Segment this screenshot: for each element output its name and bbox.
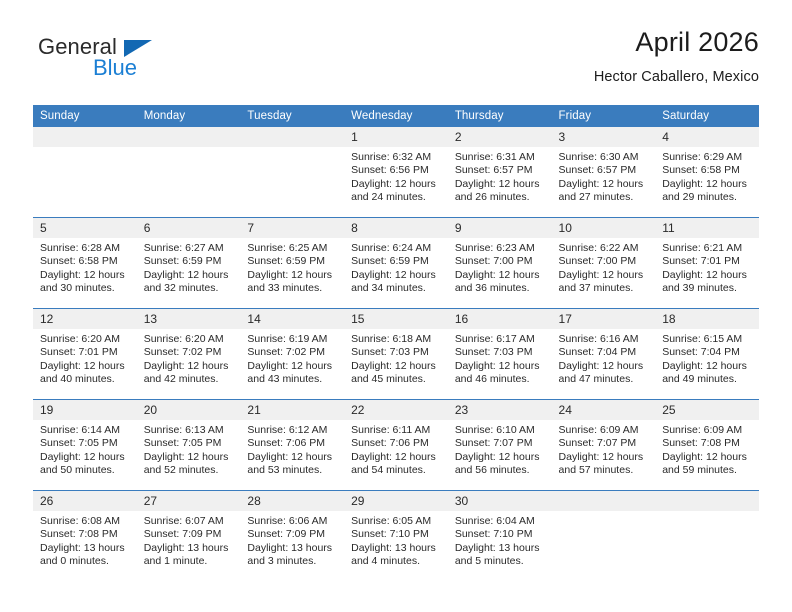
daylight-text: and 39 minutes.: [662, 282, 753, 295]
sunrise-text: Sunrise: 6:09 AM: [662, 424, 753, 437]
day-sun-info: Sunrise: 6:08 AMSunset: 7:08 PMDaylight:…: [33, 511, 137, 569]
sunset-text: Sunset: 7:01 PM: [662, 255, 753, 268]
calendar-day-cell[interactable]: 6Sunrise: 6:27 AMSunset: 6:59 PMDaylight…: [137, 218, 241, 309]
sunset-text: Sunset: 7:04 PM: [559, 346, 650, 359]
calendar-day-cell[interactable]: 4Sunrise: 6:29 AMSunset: 6:58 PMDaylight…: [655, 127, 759, 218]
daylight-text: Daylight: 13 hours: [455, 542, 546, 555]
daylight-text: and 27 minutes.: [559, 191, 650, 204]
day-sun-info: Sunrise: 6:13 AMSunset: 7:05 PMDaylight:…: [137, 420, 241, 478]
sunset-text: Sunset: 7:09 PM: [247, 528, 338, 541]
calendar-day-cell[interactable]: 1Sunrise: 6:32 AMSunset: 6:56 PMDaylight…: [344, 127, 448, 218]
day-number: 10: [552, 218, 656, 238]
day-sun-info: Sunrise: 6:24 AMSunset: 6:59 PMDaylight:…: [344, 238, 448, 296]
day-sun-info: Sunrise: 6:17 AMSunset: 7:03 PMDaylight:…: [448, 329, 552, 387]
calendar-day-cell[interactable]: 7Sunrise: 6:25 AMSunset: 6:59 PMDaylight…: [240, 218, 344, 309]
sunrise-text: Sunrise: 6:17 AM: [455, 333, 546, 346]
daylight-text: Daylight: 13 hours: [144, 542, 235, 555]
sunset-text: Sunset: 7:03 PM: [351, 346, 442, 359]
daylight-text: and 33 minutes.: [247, 282, 338, 295]
daylight-text: and 47 minutes.: [559, 373, 650, 386]
daylight-text: and 1 minute.: [144, 555, 235, 568]
daylight-text: Daylight: 12 hours: [144, 269, 235, 282]
daylight-text: Daylight: 12 hours: [662, 451, 753, 464]
day-number: 28: [240, 491, 344, 511]
sunset-text: Sunset: 7:02 PM: [247, 346, 338, 359]
daylight-text: Daylight: 12 hours: [144, 360, 235, 373]
calendar-day-cell-empty: [240, 127, 344, 218]
day-number: 5: [33, 218, 137, 238]
calendar-day-cell[interactable]: 3Sunrise: 6:30 AMSunset: 6:57 PMDaylight…: [552, 127, 656, 218]
day-sun-info: Sunrise: 6:31 AMSunset: 6:57 PMDaylight:…: [448, 147, 552, 205]
calendar-day-cell[interactable]: 27Sunrise: 6:07 AMSunset: 7:09 PMDayligh…: [137, 491, 241, 582]
sunrise-text: Sunrise: 6:23 AM: [455, 242, 546, 255]
calendar-day-cell[interactable]: 5Sunrise: 6:28 AMSunset: 6:58 PMDaylight…: [33, 218, 137, 309]
weekday-header-monday: Monday: [137, 105, 241, 127]
day-number: 2: [448, 127, 552, 147]
calendar-day-cell[interactable]: 29Sunrise: 6:05 AMSunset: 7:10 PMDayligh…: [344, 491, 448, 582]
day-number: 11: [655, 218, 759, 238]
sunset-text: Sunset: 7:09 PM: [144, 528, 235, 541]
sunset-text: Sunset: 6:58 PM: [40, 255, 131, 268]
day-number: 17: [552, 309, 656, 329]
day-sun-info: Sunrise: 6:29 AMSunset: 6:58 PMDaylight:…: [655, 147, 759, 205]
daylight-text: Daylight: 12 hours: [559, 178, 650, 191]
calendar-day-cell[interactable]: 19Sunrise: 6:14 AMSunset: 7:05 PMDayligh…: [33, 400, 137, 491]
sunrise-text: Sunrise: 6:30 AM: [559, 151, 650, 164]
sunset-text: Sunset: 7:03 PM: [455, 346, 546, 359]
day-number: [552, 491, 656, 511]
weekday-header-wednesday: Wednesday: [344, 105, 448, 127]
daylight-text: Daylight: 12 hours: [247, 451, 338, 464]
day-sun-info: Sunrise: 6:04 AMSunset: 7:10 PMDaylight:…: [448, 511, 552, 569]
calendar-grid: SundayMondayTuesdayWednesdayThursdayFrid…: [33, 105, 759, 581]
calendar-day-cell[interactable]: 24Sunrise: 6:09 AMSunset: 7:07 PMDayligh…: [552, 400, 656, 491]
sunrise-text: Sunrise: 6:05 AM: [351, 515, 442, 528]
day-sun-info: Sunrise: 6:28 AMSunset: 6:58 PMDaylight:…: [33, 238, 137, 296]
sunset-text: Sunset: 7:07 PM: [559, 437, 650, 450]
sunrise-text: Sunrise: 6:31 AM: [455, 151, 546, 164]
weekday-header-friday: Friday: [552, 105, 656, 127]
sunset-text: Sunset: 7:01 PM: [40, 346, 131, 359]
calendar-day-cell[interactable]: 13Sunrise: 6:20 AMSunset: 7:02 PMDayligh…: [137, 309, 241, 400]
sunset-text: Sunset: 7:06 PM: [247, 437, 338, 450]
daylight-text: Daylight: 13 hours: [40, 542, 131, 555]
daylight-text: Daylight: 12 hours: [559, 269, 650, 282]
weekday-header-sunday: Sunday: [33, 105, 137, 127]
sunset-text: Sunset: 6:57 PM: [455, 164, 546, 177]
sunset-text: Sunset: 7:06 PM: [351, 437, 442, 450]
daylight-text: and 57 minutes.: [559, 464, 650, 477]
daylight-text: and 5 minutes.: [455, 555, 546, 568]
calendar-week-row: 19Sunrise: 6:14 AMSunset: 7:05 PMDayligh…: [33, 400, 759, 491]
day-number: [240, 127, 344, 147]
daylight-text: and 4 minutes.: [351, 555, 442, 568]
day-sun-info: Sunrise: 6:27 AMSunset: 6:59 PMDaylight:…: [137, 238, 241, 296]
calendar-day-cell[interactable]: 10Sunrise: 6:22 AMSunset: 7:00 PMDayligh…: [552, 218, 656, 309]
sunrise-text: Sunrise: 6:28 AM: [40, 242, 131, 255]
calendar-day-cell[interactable]: 23Sunrise: 6:10 AMSunset: 7:07 PMDayligh…: [448, 400, 552, 491]
day-number: 20: [137, 400, 241, 420]
day-sun-info: Sunrise: 6:20 AMSunset: 7:01 PMDaylight:…: [33, 329, 137, 387]
calendar-day-cell-empty: [137, 127, 241, 218]
daylight-text: Daylight: 12 hours: [351, 451, 442, 464]
sunset-text: Sunset: 6:59 PM: [351, 255, 442, 268]
daylight-text: Daylight: 12 hours: [455, 360, 546, 373]
sunset-text: Sunset: 6:59 PM: [247, 255, 338, 268]
sunrise-text: Sunrise: 6:14 AM: [40, 424, 131, 437]
sunrise-text: Sunrise: 6:06 AM: [247, 515, 338, 528]
daylight-text: and 0 minutes.: [40, 555, 131, 568]
sunrise-text: Sunrise: 6:21 AM: [662, 242, 753, 255]
sunrise-text: Sunrise: 6:32 AM: [351, 151, 442, 164]
calendar-day-cell[interactable]: 12Sunrise: 6:20 AMSunset: 7:01 PMDayligh…: [33, 309, 137, 400]
sunset-text: Sunset: 7:10 PM: [351, 528, 442, 541]
day-sun-info: Sunrise: 6:22 AMSunset: 7:00 PMDaylight:…: [552, 238, 656, 296]
day-sun-info: Sunrise: 6:23 AMSunset: 7:00 PMDaylight:…: [448, 238, 552, 296]
daylight-text: and 37 minutes.: [559, 282, 650, 295]
daylight-text: and 50 minutes.: [40, 464, 131, 477]
day-sun-info: Sunrise: 6:11 AMSunset: 7:06 PMDaylight:…: [344, 420, 448, 478]
daylight-text: and 42 minutes.: [144, 373, 235, 386]
calendar-week-row: 5Sunrise: 6:28 AMSunset: 6:58 PMDaylight…: [33, 218, 759, 309]
day-number: 27: [137, 491, 241, 511]
sunset-text: Sunset: 7:02 PM: [144, 346, 235, 359]
day-number: 7: [240, 218, 344, 238]
day-sun-info: Sunrise: 6:12 AMSunset: 7:06 PMDaylight:…: [240, 420, 344, 478]
sunrise-text: Sunrise: 6:19 AM: [247, 333, 338, 346]
day-number: 4: [655, 127, 759, 147]
calendar-day-cell[interactable]: 2Sunrise: 6:31 AMSunset: 6:57 PMDaylight…: [448, 127, 552, 218]
daylight-text: and 30 minutes.: [40, 282, 131, 295]
daylight-text: Daylight: 12 hours: [455, 269, 546, 282]
sunset-text: Sunset: 7:05 PM: [144, 437, 235, 450]
general-blue-logo[interactable]: General Blue: [33, 32, 233, 88]
calendar-header-row: SundayMondayTuesdayWednesdayThursdayFrid…: [33, 105, 759, 127]
day-sun-info: Sunrise: 6:05 AMSunset: 7:10 PMDaylight:…: [344, 511, 448, 569]
sunset-text: Sunset: 6:58 PM: [662, 164, 753, 177]
sunrise-text: Sunrise: 6:04 AM: [455, 515, 546, 528]
daylight-text: and 46 minutes.: [455, 373, 546, 386]
sunrise-text: Sunrise: 6:22 AM: [559, 242, 650, 255]
daylight-text: and 36 minutes.: [455, 282, 546, 295]
daylight-text: and 49 minutes.: [662, 373, 753, 386]
day-number: 18: [655, 309, 759, 329]
daylight-text: and 52 minutes.: [144, 464, 235, 477]
title-block: April 2026 Hector Caballero, Mexico: [594, 28, 759, 85]
day-sun-info: Sunrise: 6:10 AMSunset: 7:07 PMDaylight:…: [448, 420, 552, 478]
day-sun-info: Sunrise: 6:06 AMSunset: 7:09 PMDaylight:…: [240, 511, 344, 569]
daylight-text: Daylight: 12 hours: [247, 360, 338, 373]
day-number: 15: [344, 309, 448, 329]
day-sun-info: Sunrise: 6:15 AMSunset: 7:04 PMDaylight:…: [655, 329, 759, 387]
sunrise-text: Sunrise: 6:12 AM: [247, 424, 338, 437]
day-sun-info: Sunrise: 6:25 AMSunset: 6:59 PMDaylight:…: [240, 238, 344, 296]
daylight-text: and 40 minutes.: [40, 373, 131, 386]
daylight-text: and 56 minutes.: [455, 464, 546, 477]
day-sun-info: Sunrise: 6:21 AMSunset: 7:01 PMDaylight:…: [655, 238, 759, 296]
day-number: [137, 127, 241, 147]
daylight-text: Daylight: 13 hours: [351, 542, 442, 555]
calendar-day-cell[interactable]: 28Sunrise: 6:06 AMSunset: 7:09 PMDayligh…: [240, 491, 344, 582]
day-number: 29: [344, 491, 448, 511]
daylight-text: Daylight: 12 hours: [40, 451, 131, 464]
daylight-text: Daylight: 12 hours: [351, 178, 442, 191]
page-subtitle: Hector Caballero, Mexico: [594, 69, 759, 85]
sunrise-text: Sunrise: 6:20 AM: [144, 333, 235, 346]
day-number: 25: [655, 400, 759, 420]
sunrise-text: Sunrise: 6:27 AM: [144, 242, 235, 255]
sunset-text: Sunset: 7:00 PM: [559, 255, 650, 268]
day-number: 8: [344, 218, 448, 238]
daylight-text: Daylight: 12 hours: [559, 451, 650, 464]
day-sun-info: Sunrise: 6:18 AMSunset: 7:03 PMDaylight:…: [344, 329, 448, 387]
calendar-day-cell-empty: [552, 491, 656, 582]
calendar-week-row: 12Sunrise: 6:20 AMSunset: 7:01 PMDayligh…: [33, 309, 759, 400]
day-number: 3: [552, 127, 656, 147]
day-number: 6: [137, 218, 241, 238]
day-sun-info: Sunrise: 6:09 AMSunset: 7:08 PMDaylight:…: [655, 420, 759, 478]
day-sun-info: Sunrise: 6:16 AMSunset: 7:04 PMDaylight:…: [552, 329, 656, 387]
calendar-day-cell[interactable]: 21Sunrise: 6:12 AMSunset: 7:06 PMDayligh…: [240, 400, 344, 491]
calendar-day-cell[interactable]: 17Sunrise: 6:16 AMSunset: 7:04 PMDayligh…: [552, 309, 656, 400]
page-header: General Blue April 2026 Hector Caballero…: [33, 28, 759, 96]
calendar-day-cell[interactable]: 26Sunrise: 6:08 AMSunset: 7:08 PMDayligh…: [33, 491, 137, 582]
calendar-day-cell[interactable]: 18Sunrise: 6:15 AMSunset: 7:04 PMDayligh…: [655, 309, 759, 400]
calendar-day-cell[interactable]: 25Sunrise: 6:09 AMSunset: 7:08 PMDayligh…: [655, 400, 759, 491]
day-number: [655, 491, 759, 511]
day-number: 24: [552, 400, 656, 420]
daylight-text: and 54 minutes.: [351, 464, 442, 477]
sunset-text: Sunset: 6:56 PM: [351, 164, 442, 177]
day-number: [33, 127, 137, 147]
daylight-text: Daylight: 12 hours: [662, 178, 753, 191]
daylight-text: and 45 minutes.: [351, 373, 442, 386]
sunset-text: Sunset: 7:08 PM: [662, 437, 753, 450]
daylight-text: Daylight: 12 hours: [144, 451, 235, 464]
sunrise-text: Sunrise: 6:10 AM: [455, 424, 546, 437]
sunset-text: Sunset: 6:59 PM: [144, 255, 235, 268]
sunrise-text: Sunrise: 6:18 AM: [351, 333, 442, 346]
daylight-text: Daylight: 12 hours: [40, 269, 131, 282]
day-sun-info: Sunrise: 6:14 AMSunset: 7:05 PMDaylight:…: [33, 420, 137, 478]
sunset-text: Sunset: 7:00 PM: [455, 255, 546, 268]
sunrise-text: Sunrise: 6:24 AM: [351, 242, 442, 255]
daylight-text: Daylight: 12 hours: [247, 269, 338, 282]
daylight-text: and 3 minutes.: [247, 555, 338, 568]
sunrise-text: Sunrise: 6:07 AM: [144, 515, 235, 528]
day-sun-info: Sunrise: 6:30 AMSunset: 6:57 PMDaylight:…: [552, 147, 656, 205]
day-number: 1: [344, 127, 448, 147]
daylight-text: Daylight: 12 hours: [559, 360, 650, 373]
sunrise-text: Sunrise: 6:13 AM: [144, 424, 235, 437]
daylight-text: Daylight: 13 hours: [247, 542, 338, 555]
day-number: 30: [448, 491, 552, 511]
calendar-day-cell[interactable]: 11Sunrise: 6:21 AMSunset: 7:01 PMDayligh…: [655, 218, 759, 309]
sunrise-text: Sunrise: 6:20 AM: [40, 333, 131, 346]
daylight-text: and 43 minutes.: [247, 373, 338, 386]
daylight-text: Daylight: 12 hours: [40, 360, 131, 373]
calendar-page: General Blue April 2026 Hector Caballero…: [0, 0, 792, 612]
daylight-text: and 59 minutes.: [662, 464, 753, 477]
calendar-day-cell-empty: [33, 127, 137, 218]
calendar-week-row: 26Sunrise: 6:08 AMSunset: 7:08 PMDayligh…: [33, 491, 759, 582]
daylight-text: Daylight: 12 hours: [662, 269, 753, 282]
daylight-text: and 26 minutes.: [455, 191, 546, 204]
calendar-day-cell-empty: [655, 491, 759, 582]
day-sun-info: Sunrise: 6:07 AMSunset: 7:09 PMDaylight:…: [137, 511, 241, 569]
weekday-header-saturday: Saturday: [655, 105, 759, 127]
day-number: 19: [33, 400, 137, 420]
day-sun-info: Sunrise: 6:09 AMSunset: 7:07 PMDaylight:…: [552, 420, 656, 478]
sunset-text: Sunset: 6:57 PM: [559, 164, 650, 177]
daylight-text: and 24 minutes.: [351, 191, 442, 204]
day-number: 22: [344, 400, 448, 420]
sunrise-text: Sunrise: 6:29 AM: [662, 151, 753, 164]
sunset-text: Sunset: 7:10 PM: [455, 528, 546, 541]
calendar-day-cell[interactable]: 15Sunrise: 6:18 AMSunset: 7:03 PMDayligh…: [344, 309, 448, 400]
weekday-header-tuesday: Tuesday: [240, 105, 344, 127]
calendar-day-cell[interactable]: 20Sunrise: 6:13 AMSunset: 7:05 PMDayligh…: [137, 400, 241, 491]
logo-text-blue: Blue: [93, 57, 137, 79]
sunrise-text: Sunrise: 6:08 AM: [40, 515, 131, 528]
daylight-text: Daylight: 12 hours: [662, 360, 753, 373]
day-number: 13: [137, 309, 241, 329]
daylight-text: Daylight: 12 hours: [455, 178, 546, 191]
day-number: 21: [240, 400, 344, 420]
daylight-text: and 53 minutes.: [247, 464, 338, 477]
day-number: 16: [448, 309, 552, 329]
daylight-text: and 34 minutes.: [351, 282, 442, 295]
sunrise-text: Sunrise: 6:15 AM: [662, 333, 753, 346]
daylight-text: and 29 minutes.: [662, 191, 753, 204]
weekday-header-thursday: Thursday: [448, 105, 552, 127]
calendar-day-cell[interactable]: 30Sunrise: 6:04 AMSunset: 7:10 PMDayligh…: [448, 491, 552, 582]
day-number: 9: [448, 218, 552, 238]
day-number: 26: [33, 491, 137, 511]
calendar-body: 1Sunrise: 6:32 AMSunset: 6:56 PMDaylight…: [33, 127, 759, 581]
calendar-day-cell[interactable]: 22Sunrise: 6:11 AMSunset: 7:06 PMDayligh…: [344, 400, 448, 491]
sunrise-text: Sunrise: 6:09 AM: [559, 424, 650, 437]
calendar-week-row: 1Sunrise: 6:32 AMSunset: 6:56 PMDaylight…: [33, 127, 759, 218]
sunset-text: Sunset: 7:08 PM: [40, 528, 131, 541]
calendar-day-cell[interactable]: 16Sunrise: 6:17 AMSunset: 7:03 PMDayligh…: [448, 309, 552, 400]
sunset-text: Sunset: 7:07 PM: [455, 437, 546, 450]
day-sun-info: Sunrise: 6:19 AMSunset: 7:02 PMDaylight:…: [240, 329, 344, 387]
daylight-text: Daylight: 12 hours: [351, 269, 442, 282]
sunrise-text: Sunrise: 6:11 AM: [351, 424, 442, 437]
day-number: 12: [33, 309, 137, 329]
page-title: April 2026: [594, 28, 759, 58]
weekday-header-row: SundayMondayTuesdayWednesdayThursdayFrid…: [33, 105, 759, 127]
daylight-text: Daylight: 12 hours: [351, 360, 442, 373]
calendar-day-cell[interactable]: 9Sunrise: 6:23 AMSunset: 7:00 PMDaylight…: [448, 218, 552, 309]
day-sun-info: Sunrise: 6:32 AMSunset: 6:56 PMDaylight:…: [344, 147, 448, 205]
day-number: 23: [448, 400, 552, 420]
calendar-day-cell[interactable]: 8Sunrise: 6:24 AMSunset: 6:59 PMDaylight…: [344, 218, 448, 309]
daylight-text: Daylight: 12 hours: [455, 451, 546, 464]
day-number: 14: [240, 309, 344, 329]
sunrise-text: Sunrise: 6:25 AM: [247, 242, 338, 255]
sunset-text: Sunset: 7:05 PM: [40, 437, 131, 450]
day-sun-info: Sunrise: 6:20 AMSunset: 7:02 PMDaylight:…: [137, 329, 241, 387]
calendar-day-cell[interactable]: 14Sunrise: 6:19 AMSunset: 7:02 PMDayligh…: [240, 309, 344, 400]
sunrise-text: Sunrise: 6:16 AM: [559, 333, 650, 346]
sunset-text: Sunset: 7:04 PM: [662, 346, 753, 359]
daylight-text: and 32 minutes.: [144, 282, 235, 295]
